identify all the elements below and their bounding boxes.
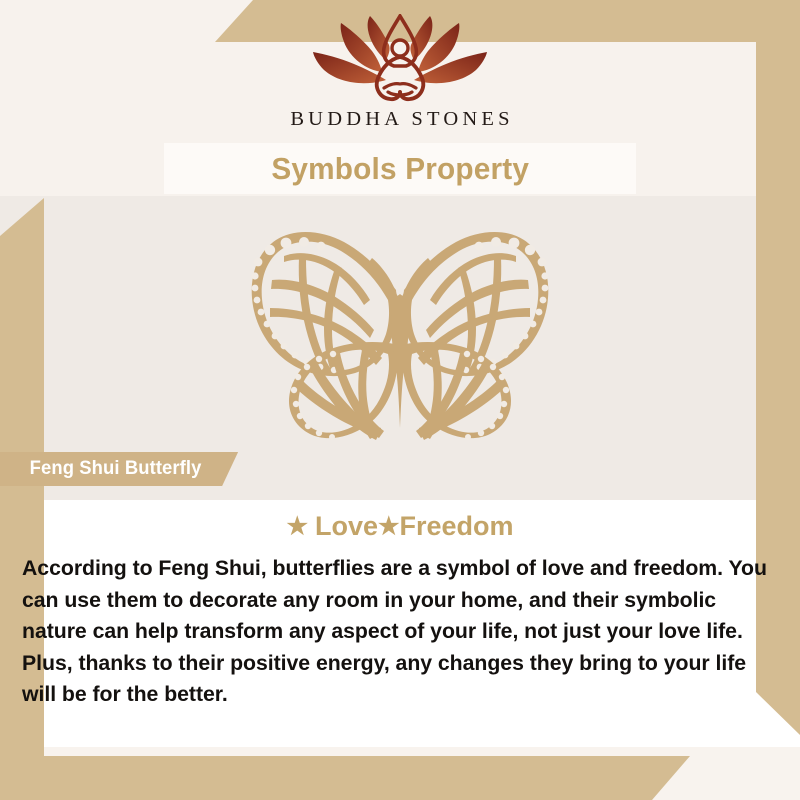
brand-name: BUDDHA STONES: [0, 108, 800, 131]
lotus-meditation-icon: [310, 14, 490, 106]
body-paragraph: According to Feng Shui, butterflies are …: [22, 552, 773, 710]
page-title: Symbols Property: [271, 151, 529, 187]
section-heading: ★Love★Freedom: [0, 511, 800, 542]
monarch-butterfly-icon: [224, 228, 576, 440]
banner-label: Feng Shui Butterfly: [30, 458, 202, 480]
star-icon-left: ★: [286, 513, 308, 540]
title-band: Symbols Property: [164, 143, 636, 194]
star-icon-mid: ★: [378, 513, 400, 540]
brand-logo: BUDDHA STONES: [0, 14, 800, 131]
hero-illustration: [0, 228, 800, 445]
heading-word-love: Love: [315, 511, 378, 541]
decor-band-bottom: [0, 756, 690, 800]
heading-word-freedom: Freedom: [400, 511, 514, 541]
feng-shui-banner: Feng Shui Butterfly: [0, 452, 238, 486]
promo-poster: BUDDHA STONES Symbols Property: [0, 0, 800, 800]
